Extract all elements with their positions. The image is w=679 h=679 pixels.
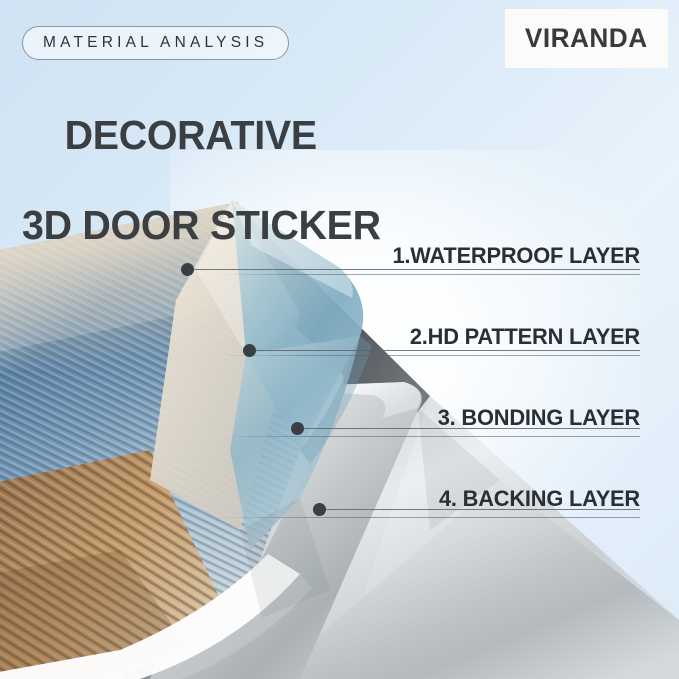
callout-underline <box>220 436 640 437</box>
badge-label: MATERIAL ANALYSIS <box>43 34 268 52</box>
page-title: DECORATIVE 3D DOOR STICKER <box>22 68 381 338</box>
title-line-1: DECORATIVE <box>65 112 317 158</box>
callout-waterproof-layer: 1.WATERPROOF LAYER <box>220 243 640 275</box>
material-analysis-badge: MATERIAL ANALYSIS <box>22 26 289 60</box>
marker-dot-1 <box>181 263 194 276</box>
callout-label: 2.HD PATTERN LAYER <box>233 324 640 350</box>
callout-underline <box>220 274 640 275</box>
leader-line-1 <box>194 269 640 270</box>
leader-line-4 <box>326 509 640 510</box>
leader-line-2 <box>256 350 640 351</box>
marker-dot-4 <box>313 503 326 516</box>
marker-dot-3 <box>291 422 304 435</box>
callout-label: 1.WATERPROOF LAYER <box>233 243 640 269</box>
callout-hd-pattern-layer: 2.HD PATTERN LAYER <box>220 324 640 356</box>
leader-line-3 <box>304 428 640 429</box>
title-line-2: 3D DOOR STICKER <box>22 203 381 248</box>
callout-bonding-layer: 3. BONDING LAYER <box>220 405 640 437</box>
callout-underline <box>220 517 640 518</box>
brand-logo-text: VIRANDA <box>525 23 648 54</box>
callout-backing-layer: 4. BACKING LAYER <box>220 486 640 518</box>
product-infographic: MATERIAL ANALYSIS VIRANDA DECORATIVE 3D … <box>0 0 679 679</box>
marker-dot-2 <box>243 344 256 357</box>
callout-underline <box>220 355 640 356</box>
brand-logo: VIRANDA <box>505 9 668 68</box>
